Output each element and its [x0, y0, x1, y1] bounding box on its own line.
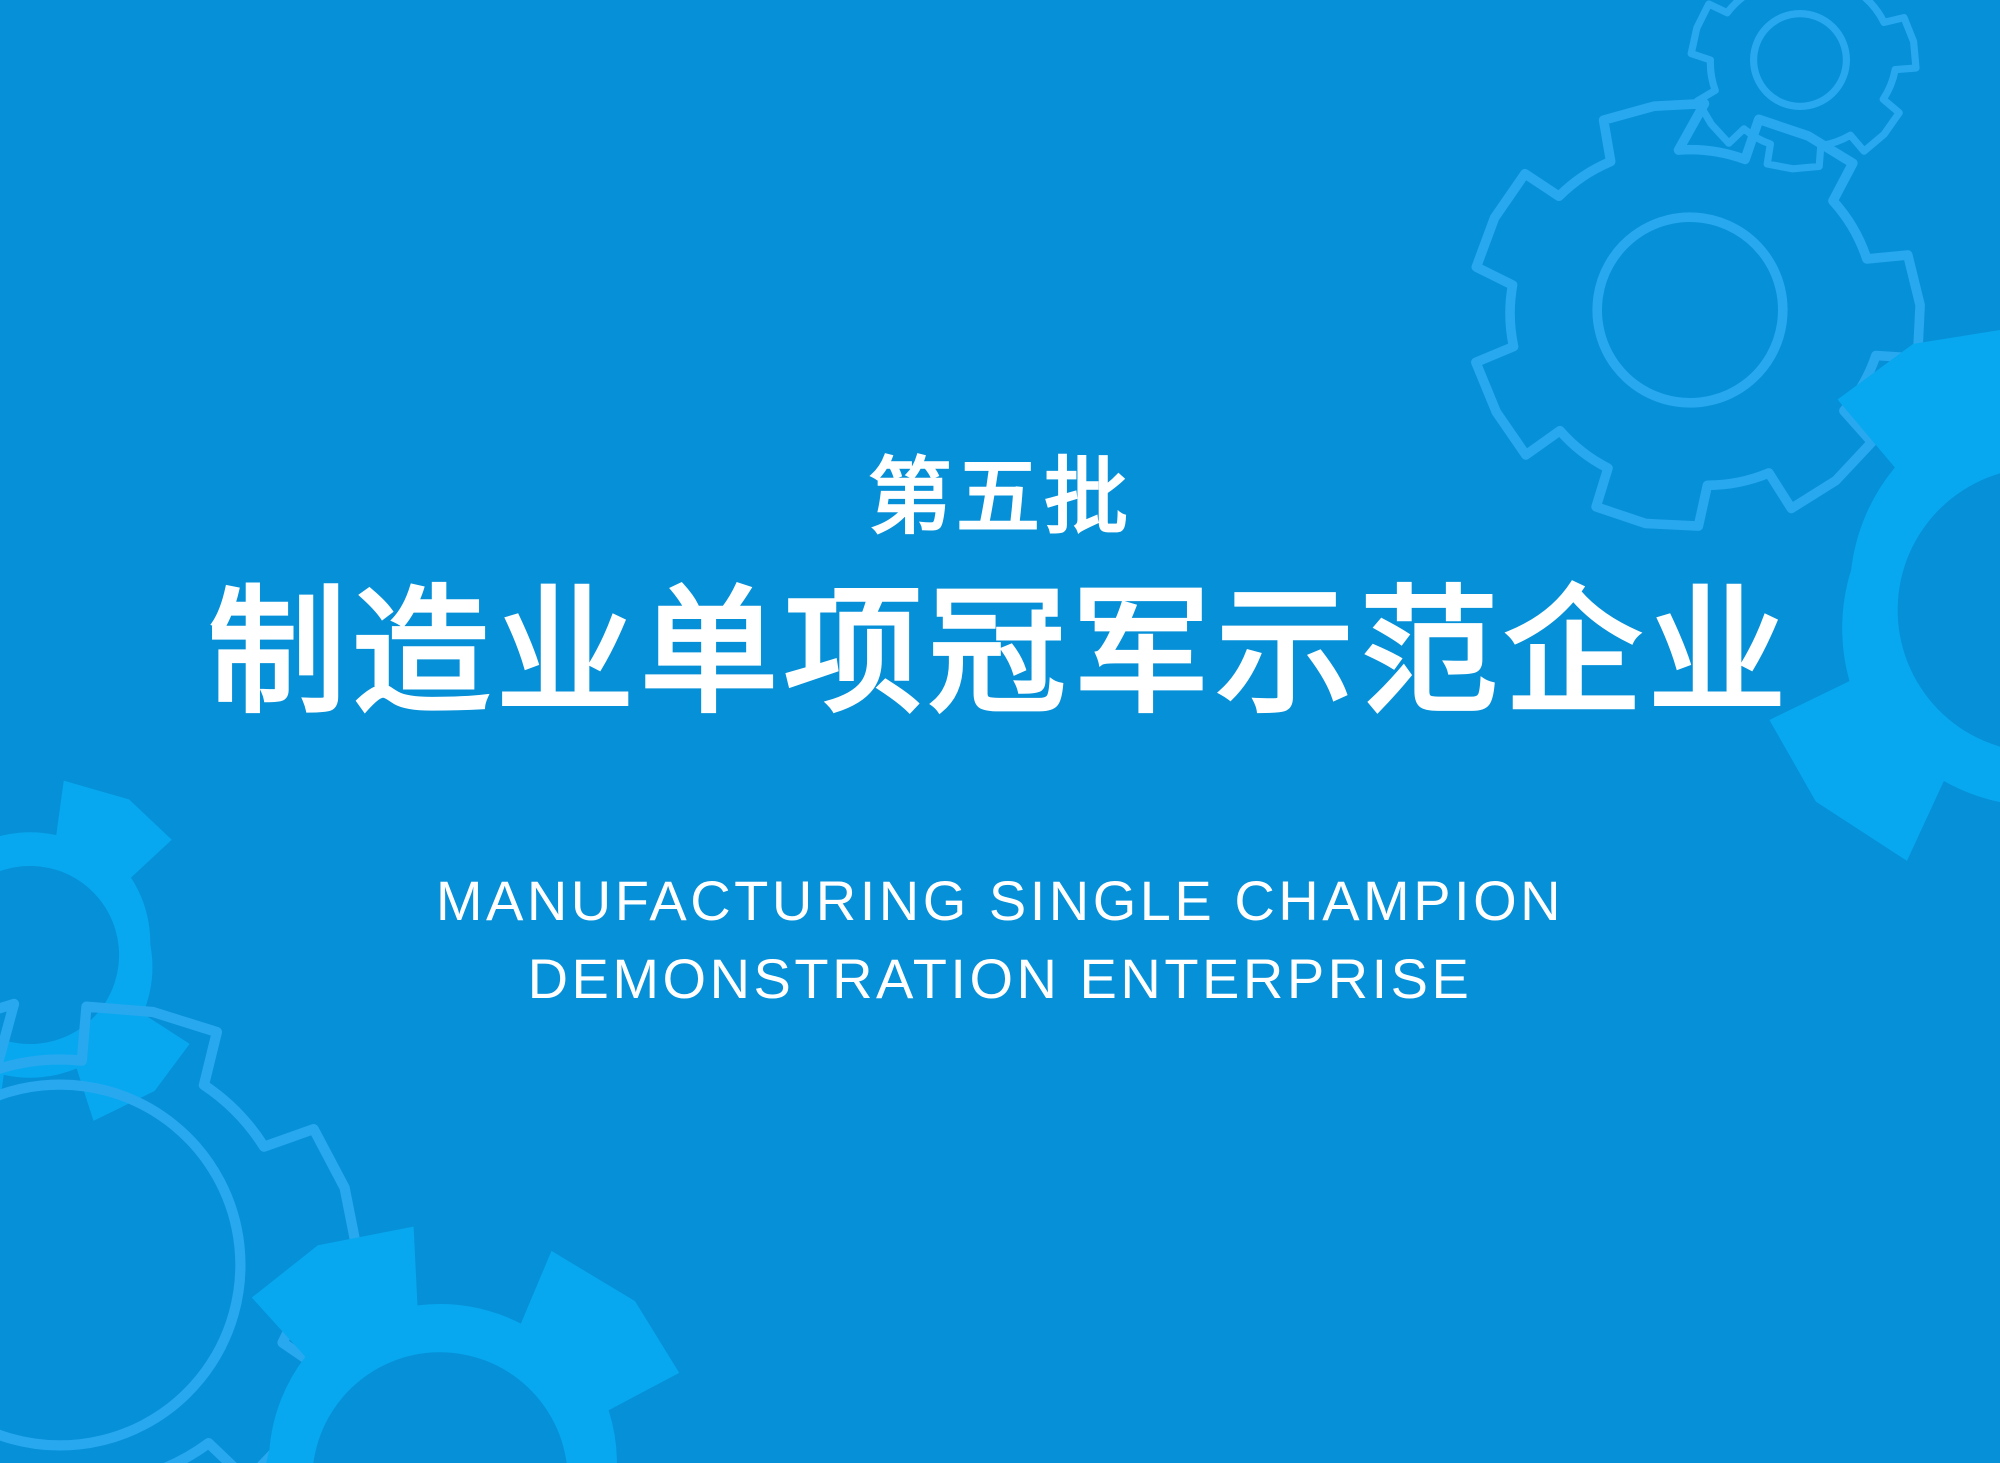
poster-subtitle-line-2: DEMONSTRATION ENTERPRISE — [436, 940, 1564, 1017]
poster-content: 第五批 制造业单项冠军示范企业 MANUFACTURING SINGLE CHA… — [0, 0, 2000, 1463]
poster-canvas: 第五批 制造业单项冠军示范企业 MANUFACTURING SINGLE CHA… — [0, 0, 2000, 1463]
poster-subtitle-line-1: MANUFACTURING SINGLE CHAMPION — [436, 862, 1564, 939]
poster-subtitle: MANUFACTURING SINGLE CHAMPION DEMONSTRAT… — [436, 862, 1564, 1017]
poster-headline: 制造业单项冠军示范企业 — [208, 581, 1792, 726]
poster-eyebrow: 第五批 — [868, 455, 1132, 539]
